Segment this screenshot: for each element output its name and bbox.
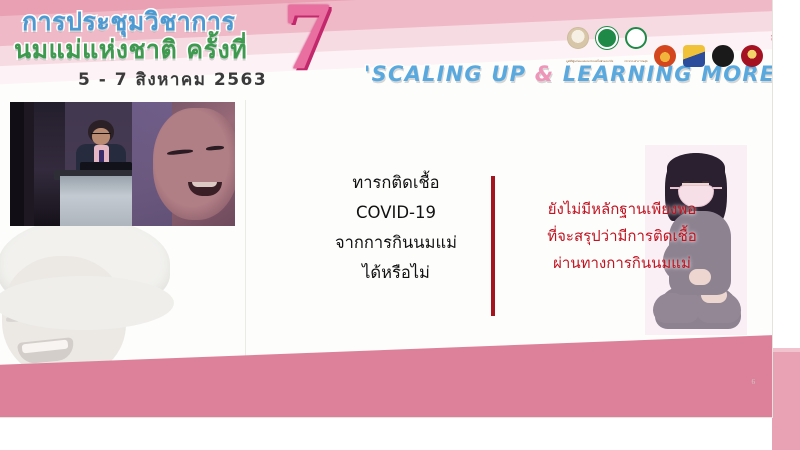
- logo-department-of-health: กระทรวงสาธารณสุข: [624, 27, 648, 67]
- logo-red-crown-seal: [740, 45, 764, 67]
- stage-wall-panel-2: [24, 102, 34, 226]
- answer-line-3: ผ่านทางการกินนมแม่: [497, 250, 747, 277]
- podium: [60, 176, 142, 226]
- logo-university-black-seal: [711, 45, 735, 67]
- question-line-4: ได้หรือไม่: [310, 258, 482, 288]
- logo-mark-icon: [741, 45, 763, 67]
- conference-edition-number: 7: [283, 0, 331, 84]
- slide-content-divider-left: [245, 100, 246, 390]
- face-mask-strap-right: [713, 187, 722, 189]
- page-background-right-pink: [772, 352, 800, 450]
- logo-mark-icon: [712, 45, 734, 67]
- presentation-slide: 7 การประชุมวิชาการ นมแม่แห่งชาติ ครั้งที…: [0, 0, 773, 418]
- mother-leg-left: [653, 293, 699, 323]
- question-line-2: COVID-19: [310, 198, 482, 228]
- conference-date-range: 5 - 7 สิงหาคม 2563: [78, 66, 267, 93]
- slogan-prefix: 'SCALING UP: [364, 62, 535, 86]
- child-hat-brim: [0, 276, 174, 330]
- slogan-ampersand: &: [535, 62, 555, 86]
- stage-wall-panel-1: [10, 102, 24, 226]
- question-line-3: จากการกินนมแม่: [310, 228, 482, 258]
- sponsor-logo-strip: มูลนิธิศูนย์นมแม่แห่งประเทศไทย กรมอนามัย…: [566, 27, 773, 67]
- answer-line-2: ที่จะสรุปว่ามีการติดเชื้อ: [497, 223, 747, 250]
- slide-border-bottom: [0, 417, 773, 418]
- conference-speaker-and-baby-video-still[interactable]: [10, 102, 235, 226]
- slide-screenshot: 7 การประชุมวิชาการ นมแม่แห่งชาติ ครั้งที…: [0, 0, 800, 450]
- question-text-block: ทารกติดเชื้อ COVID-19 จากการกินนมแม่ ได้…: [310, 168, 482, 288]
- logo-royal-emblem-orange: [653, 45, 677, 67]
- logo-ministry-of-public-health-green: กรมอนามัย: [595, 27, 619, 67]
- logo-caption: กรมอนามัย: [601, 60, 614, 63]
- logo-caption: กระทรวงสาธารณสุข: [624, 60, 647, 63]
- baby-face: [153, 108, 235, 220]
- logo-mark-icon: [683, 45, 705, 67]
- logo-mark-icon: [567, 27, 589, 49]
- answer-line-1: ยังไม่มีหลักฐานเพียงพอ: [497, 196, 747, 223]
- page-number: 6: [752, 378, 756, 386]
- speaker-glasses-icon: [91, 133, 111, 137]
- mother-eye-left: [683, 181, 690, 183]
- question-line-1: ทารกติดเชื้อ: [310, 168, 482, 198]
- logo-royal-emblem-gold-blue: [682, 45, 706, 67]
- slide-border-right: [772, 0, 773, 418]
- conference-title-line2: นมแม่แห่งชาติ ครั้งที่: [14, 30, 247, 70]
- logo-mark-icon: [596, 27, 618, 49]
- logo-thai-breastfeeding-foundation: มูลนิธิศูนย์นมแม่แห่งประเทศไทย: [566, 27, 590, 67]
- answer-text-block: ยังไม่มีหลักฐานเพียงพอ ที่จะสรุปว่ามีการ…: [497, 196, 747, 277]
- red-vertical-divider: [491, 176, 495, 316]
- logo-mark-icon: [654, 45, 676, 67]
- logo-mark-icon: [625, 27, 647, 49]
- baby-teeth: [192, 182, 217, 187]
- mother-eye-right: [702, 181, 709, 183]
